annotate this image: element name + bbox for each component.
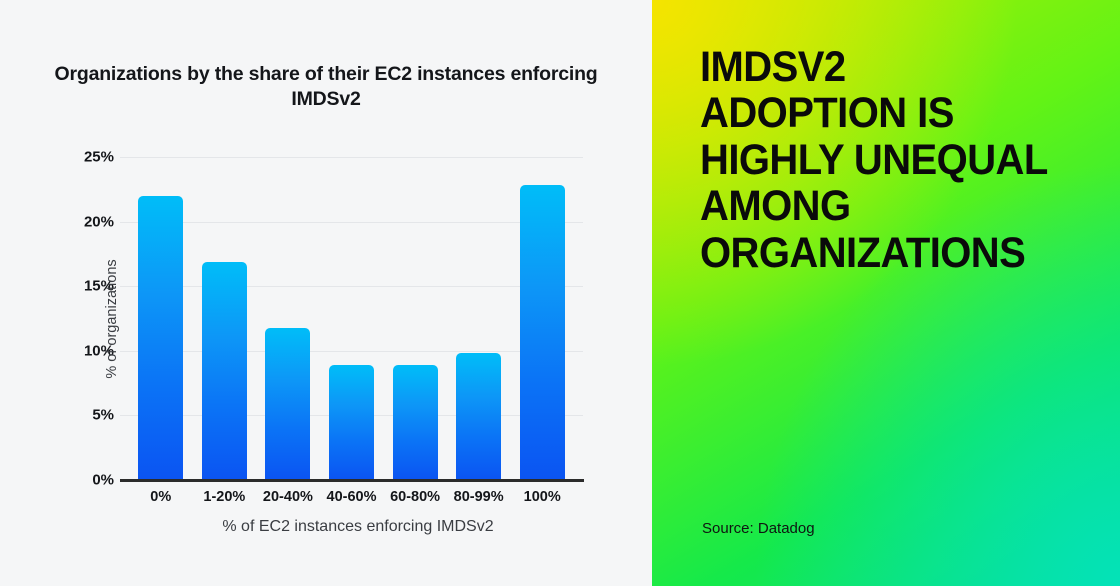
x-axis-label: % of EC2 instances enforcing IMDSv2 (0, 518, 652, 536)
headline-line: ADOPTION IS (700, 90, 1072, 136)
bar[interactable] (520, 185, 565, 480)
bar[interactable] (329, 365, 374, 480)
y-tick-label: 0% (60, 472, 114, 489)
y-axis-label-wrap: % of organizations (56, 157, 57, 480)
headline-line: HIGHLY UNEQUAL (700, 137, 1072, 183)
y-axis-label: % of organizations (104, 219, 120, 419)
bar[interactable] (393, 365, 438, 480)
headline-line: AMONG (700, 183, 1072, 229)
headline-line: IMDSv2 (700, 44, 1072, 90)
headline-panel: IMDSv2ADOPTION ISHIGHLY UNEQUALAMONGORGA… (652, 0, 1120, 586)
headline-line: ORGANIZATIONS (700, 230, 1072, 276)
chart-title: Organizations by the share of their EC2 … (0, 62, 652, 112)
bar[interactable] (138, 196, 183, 480)
bar[interactable] (202, 262, 247, 480)
headline: IMDSv2ADOPTION ISHIGHLY UNEQUALAMONGORGA… (700, 44, 1072, 276)
x-tick-label: 100% (497, 489, 587, 505)
bar[interactable] (456, 353, 501, 480)
y-tick-label: 25% (60, 149, 114, 166)
bar-series (120, 157, 583, 480)
chart-panel: Organizations by the share of their EC2 … (0, 0, 652, 586)
bar[interactable] (265, 328, 310, 480)
source-credit: Source: Datadog (702, 520, 815, 537)
x-axis-line (120, 479, 584, 482)
infographic-page: Organizations by the share of their EC2 … (0, 0, 1120, 586)
